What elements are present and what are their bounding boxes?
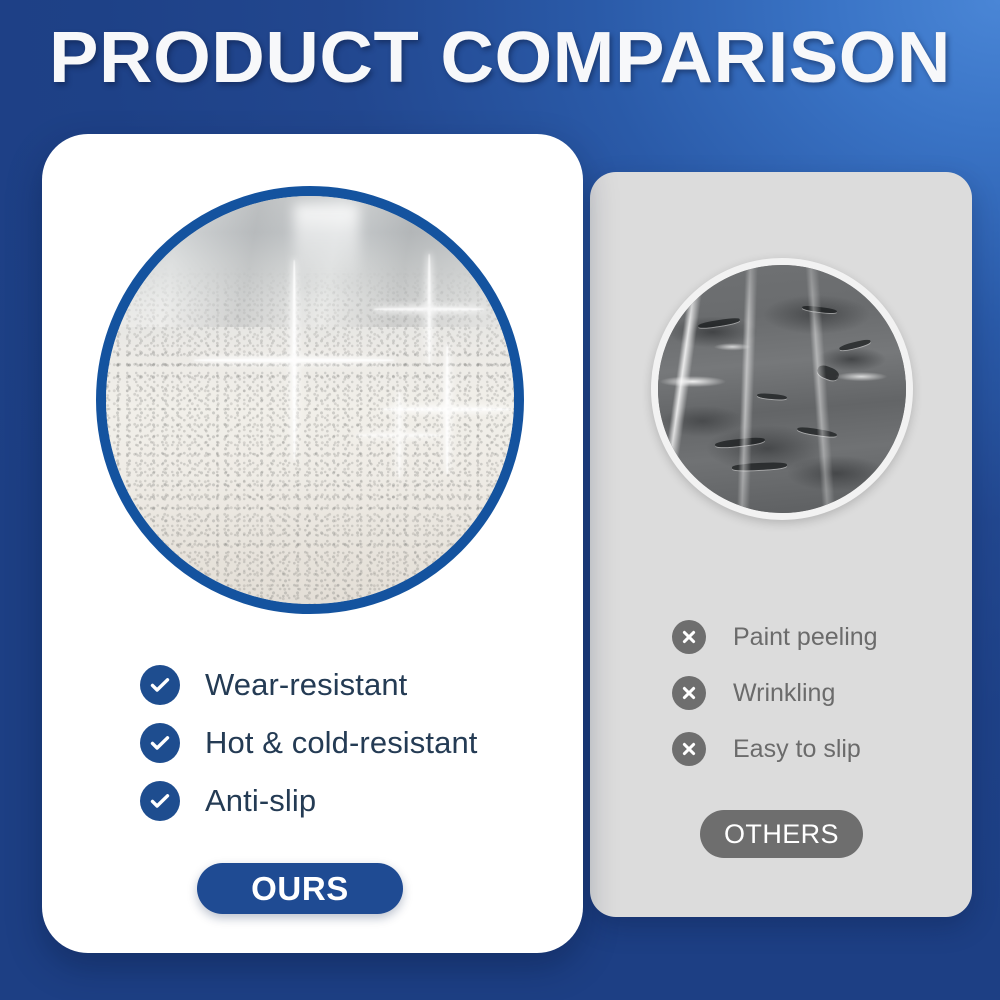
infographic-canvas: PRODUCT COMPARISON Wear-resis [0,0,1000,1000]
list-item: Anti-slip [140,772,570,830]
others-product-image [651,258,913,520]
others-feature-list: Paint peeling Wrinkling Easy to slip [672,609,972,777]
list-item: Wrinkling [672,665,972,721]
x-circle-icon [672,732,706,766]
crack-mark [732,462,787,472]
others-badge: OTHERS [700,810,863,858]
crack-mark [797,426,837,439]
x-circle-icon [672,620,706,654]
ours-badge: OURS [197,863,403,914]
crack-mark [697,316,740,328]
list-item: Wear-resistant [140,656,570,714]
crack-mark [815,363,840,383]
x-circle-icon [672,676,706,710]
crack-mark [839,338,872,352]
check-circle-icon [140,665,180,705]
check-circle-icon [140,781,180,821]
list-item-label: Paint peeling [733,623,878,652]
list-item-label: Hot & cold-resistant [205,725,478,761]
list-item: Easy to slip [672,721,972,777]
list-item-label: Easy to slip [733,735,861,764]
ours-product-image [96,186,524,614]
floor-gloss-reflection [106,196,514,327]
crack-mark [802,305,837,315]
list-item-label: Wrinkling [733,679,835,708]
page-title: PRODUCT COMPARISON [0,22,1000,94]
damaged-floor-photo [658,265,906,513]
list-item-label: Anti-slip [205,783,316,819]
check-circle-icon [140,723,180,763]
list-item-label: Wear-resistant [205,667,407,703]
crack-mark [715,436,765,449]
ours-feature-list: Wear-resistant Hot & cold-resistant Anti… [140,656,570,830]
list-item: Hot & cold-resistant [140,714,570,772]
crack-mark [757,393,787,401]
list-item: Paint peeling [672,609,972,665]
